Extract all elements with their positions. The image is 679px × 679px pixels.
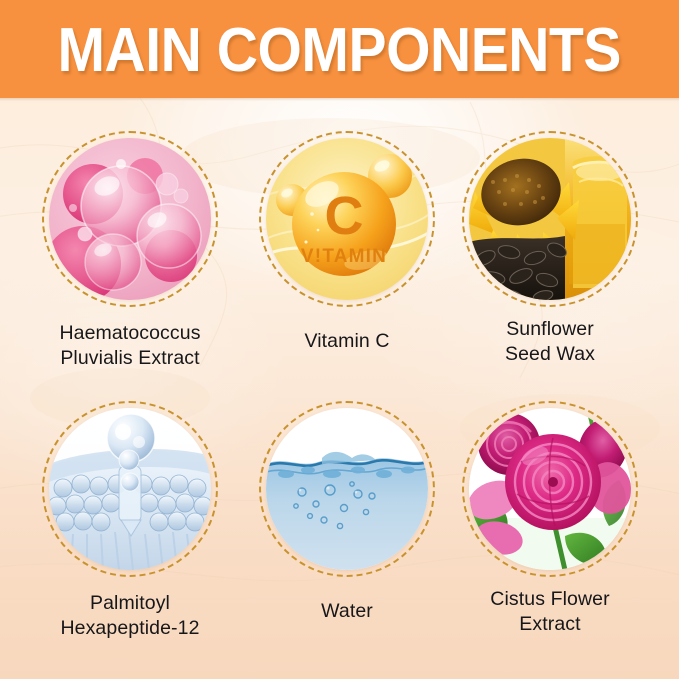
component-label-line1: Cistus Flower [437, 587, 663, 612]
infographic-page: MAIN COMPONENTS [0, 0, 679, 679]
dashed-ring [42, 401, 218, 577]
component-item-vitamin-c[interactable]: C V!TAMIN Vitamin C [234, 131, 460, 354]
component-label: Cistus Flower Extract [437, 587, 663, 637]
dashed-ring: C V!TAMIN [259, 131, 435, 307]
components-grid: Haematococcus Pluvialis Extract [0, 98, 679, 679]
component-label: Sunflower Seed Wax [437, 317, 663, 367]
pink-rose-flowers-image [469, 408, 631, 570]
component-label-line2: Hexapeptide-12 [17, 616, 243, 641]
svg-text:V!TAMIN: V!TAMIN [301, 246, 387, 267]
component-label-line1: Water [234, 599, 460, 624]
dashed-ring [259, 401, 435, 577]
dashed-ring [42, 131, 218, 307]
component-label-line1: Haematococcus [17, 321, 243, 346]
component-item-water[interactable]: Water [234, 401, 460, 624]
component-label-line1: Sunflower [437, 317, 663, 342]
component-label-line2: Pluvialis Extract [17, 346, 243, 371]
header-banner: MAIN COMPONENTS [0, 0, 679, 98]
component-item-sunflower-seed-wax[interactable]: Sunflower Seed Wax [437, 131, 663, 367]
component-label: Vitamin C [234, 329, 460, 354]
peptide-skin-structure-image [49, 408, 211, 570]
water-surface-image [266, 408, 428, 570]
sunflower-and-oil-image [469, 138, 631, 300]
component-label: Water [234, 599, 460, 624]
component-label-line1: Vitamin C [234, 329, 460, 354]
dashed-ring [462, 131, 638, 307]
dashed-ring [462, 401, 638, 577]
page-title: MAIN COMPONENTS [58, 16, 622, 82]
component-item-haematococcus-pluvialis-extract[interactable]: Haematococcus Pluvialis Extract [17, 131, 243, 371]
component-label-line2: Seed Wax [437, 342, 663, 367]
component-label: Palmitoyl Hexapeptide-12 [17, 591, 243, 641]
pink-bubbles-image [49, 138, 211, 300]
svg-text:C: C [325, 186, 364, 246]
component-item-cistus-flower-extract[interactable]: Cistus Flower Extract [437, 401, 663, 637]
component-label: Haematococcus Pluvialis Extract [17, 321, 243, 371]
vitamin-c-droplet-image: C V!TAMIN [266, 138, 428, 300]
component-label-line2: Extract [437, 612, 663, 637]
component-item-palmitoyl-hexapeptide-12[interactable]: Palmitoyl Hexapeptide-12 [17, 401, 243, 641]
component-label-line1: Palmitoyl [17, 591, 243, 616]
